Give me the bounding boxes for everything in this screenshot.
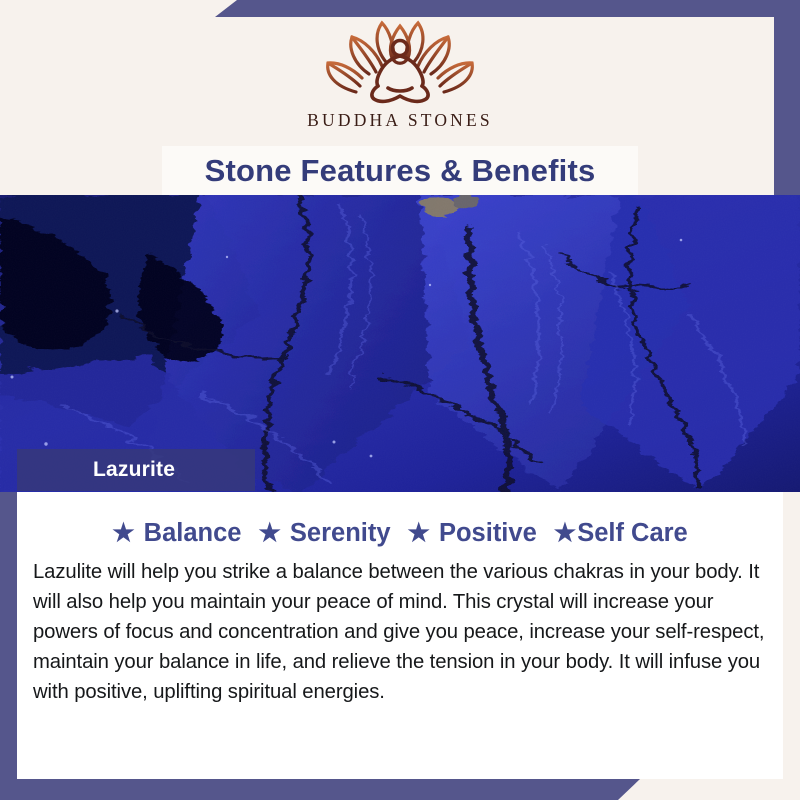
decor-top-accent-band (215, 0, 800, 17)
stone-name-label: Lazurite (17, 449, 255, 491)
star-icon: ★ (554, 521, 576, 546)
brand-name: BUDDHA STONES (307, 110, 493, 131)
decor-left-accent-bar (0, 489, 17, 779)
keyword-list: ★ Balance ★ Serenity ★ Positive ★ Self C… (17, 492, 783, 548)
poster-root: BUDDHA STONES Stone Features & Benefits (0, 0, 800, 800)
content-card: ★ Balance ★ Serenity ★ Positive ★ Self C… (17, 492, 783, 779)
page-title: Stone Features & Benefits (205, 153, 596, 189)
keyword-serenity: Serenity (290, 519, 391, 548)
stone-photo (0, 195, 800, 492)
brand-logo: BUDDHA STONES (0, 16, 800, 144)
star-icon: ★ (408, 521, 430, 546)
keyword-positive: Positive (439, 519, 537, 548)
star-icon: ★ (258, 521, 280, 546)
stone-name-text: Lazurite (17, 458, 175, 482)
stone-description: Lazulite will help you strike a balance … (33, 557, 765, 707)
title-banner: Stone Features & Benefits (162, 146, 638, 196)
lotus-meditation-figure-icon (312, 16, 488, 108)
keyword-balance: Balance (144, 519, 242, 548)
keyword-self-care: Self Care (577, 519, 688, 548)
decor-bottom-accent-band (0, 779, 640, 800)
star-icon: ★ (112, 521, 134, 546)
lazurite-stone-image (0, 195, 800, 492)
